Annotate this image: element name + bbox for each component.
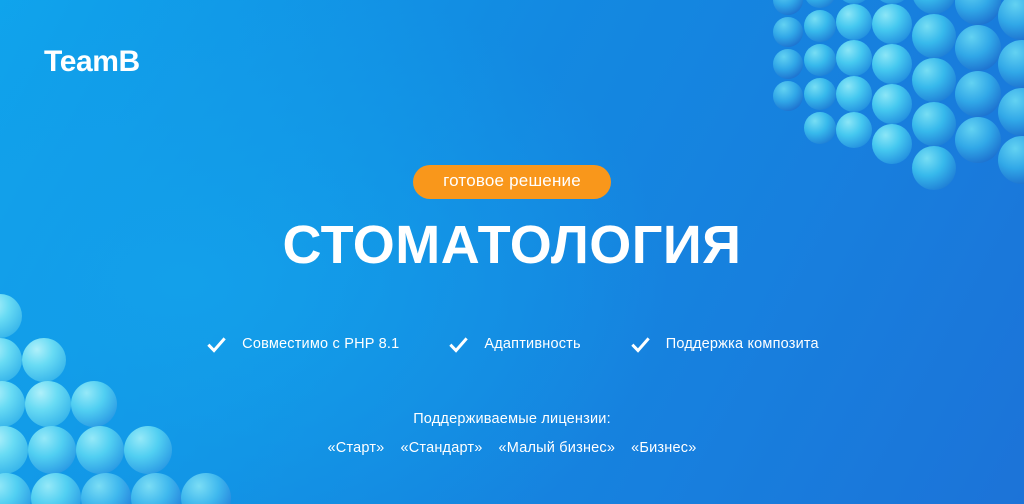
check-icon [205, 333, 228, 356]
license-list: «Старт» «Стандарт» «Малый бизнес» «Бизне… [328, 441, 697, 456]
promo-banner: TeamB готовое решение СТОМАТОЛОГИЯ Совме… [0, 0, 1024, 504]
list-item-label: Адаптивность [484, 337, 580, 352]
license-heading: Поддерживаемые лицензии: [413, 412, 611, 427]
hero-block: готовое решение СТОМАТОЛОГИЯ [0, 0, 1024, 273]
list-item: «Стандарт» [400, 441, 482, 456]
status-badge: готовое решение [413, 165, 611, 199]
list-item: «Старт» [328, 441, 385, 456]
list-item: «Малый бизнес» [499, 441, 616, 456]
list-item: Адаптивность [447, 333, 580, 356]
list-item: Совместимо с PHP 8.1 [205, 333, 399, 356]
list-item: «Бизнес» [631, 441, 696, 456]
page-title: СТОМАТОЛОГИЯ [282, 217, 741, 274]
check-icon [629, 333, 652, 356]
list-item: Поддержка композита [629, 333, 819, 356]
check-icon [447, 333, 470, 356]
list-item-label: Совместимо с PHP 8.1 [242, 337, 399, 352]
feature-list: Совместимо с PHP 8.1 Адаптивность Поддер… [0, 333, 1024, 356]
sphere-cluster-icon [0, 280, 262, 504]
license-section: Поддерживаемые лицензии: «Старт» «Станда… [0, 412, 1024, 455]
list-item-label: Поддержка композита [666, 337, 819, 352]
